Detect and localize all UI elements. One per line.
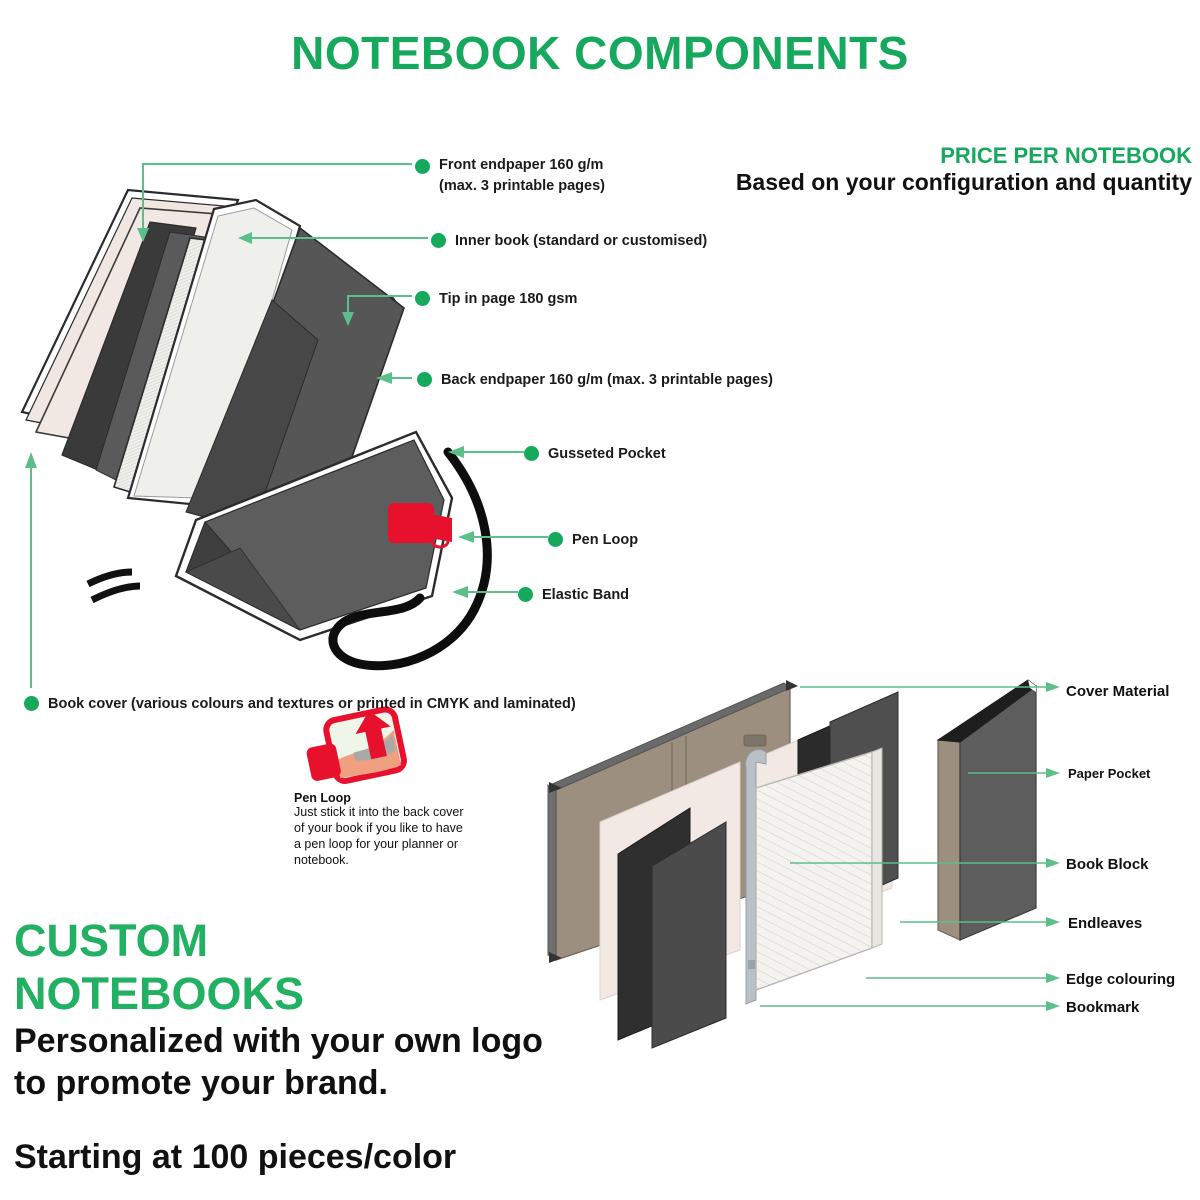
- callout-label: Book cover (various colours and textures…: [48, 694, 576, 715]
- spine-band-upper: [88, 572, 132, 584]
- cover-notch-bottom: [549, 952, 562, 963]
- inner-book-page: [128, 200, 300, 505]
- bullet-dot: [415, 291, 430, 306]
- bookmark-ribbon: [746, 750, 766, 1004]
- bullet-dot: [518, 587, 533, 602]
- callout-back-endpaper: Back endpaper 160 g/m (max. 3 printable …: [417, 370, 773, 391]
- pocket-slot: [744, 735, 766, 746]
- paper-pocket-spine: [938, 740, 960, 940]
- callout-elastic-band: Elastic Band: [518, 585, 629, 606]
- label-paper-pocket: Paper Pocket: [1068, 766, 1150, 781]
- book-block: [756, 752, 872, 990]
- cover-material-fold-top: [938, 680, 1036, 742]
- spine-band-lower: [92, 586, 140, 600]
- cover-notch-right: [786, 680, 798, 691]
- edge-colouring-panel: [798, 710, 866, 925]
- callout-label: Tip in page 180 gsm: [439, 289, 577, 310]
- elastic-band: [333, 452, 487, 666]
- callout-label: Pen Loop: [572, 530, 638, 551]
- page-block-edge: [114, 238, 236, 500]
- endleaves-sheet-left: [600, 762, 740, 1000]
- label-endleaves: Endleaves: [1068, 915, 1142, 932]
- book-block-edge: [872, 748, 882, 948]
- tip-in-page-sliver: [330, 300, 352, 360]
- callout-label: Front endpaper 160 g/m (max. 3 printable…: [439, 155, 605, 197]
- callout-gusseted-pocket: Gusseted Pocket: [524, 444, 666, 465]
- callout-book-cover: Book cover (various colours and textures…: [24, 694, 576, 715]
- tip-in-page: [336, 296, 402, 392]
- endleaves-sheet-right: [752, 700, 892, 938]
- dark-panel-a: [618, 808, 690, 1040]
- callout-label: Elastic Band: [542, 585, 629, 606]
- dark-panel-b: [652, 822, 726, 1048]
- label-edge-colouring: Edge colouring: [1066, 971, 1175, 988]
- callout-front-endpaper: Front endpaper 160 g/m (max. 3 printable…: [415, 155, 605, 197]
- label-book-block: Book Block: [1066, 856, 1149, 873]
- inner-sheet-dark-1: [62, 222, 196, 480]
- back-endpaper-shadow: [186, 300, 318, 530]
- footer-custom-line1: CUSTOM: [14, 915, 208, 967]
- callout-inner-book: Inner book (standard or customised): [431, 231, 707, 252]
- bullet-dot: [417, 372, 432, 387]
- exploded-isometric-group: [548, 680, 1060, 1048]
- page-title: NOTEBOOK COMPONENTS: [0, 26, 1200, 80]
- bullet-dot: [431, 233, 446, 248]
- callout-pen-loop: Pen Loop: [548, 530, 638, 551]
- cover-material-back-panel: [556, 688, 790, 960]
- front-endpaper-sheet: [36, 208, 243, 455]
- label-cover-material: Cover Material: [1066, 683, 1169, 700]
- bookmark-tail: [748, 960, 770, 969]
- leader-lines-exploded: [760, 682, 1060, 1011]
- peel-sticker-arrow-icon: [301, 706, 406, 788]
- endleaves-panel-dark: [830, 692, 898, 908]
- label-bookmark: Bookmark: [1066, 999, 1139, 1016]
- bullet-dot: [524, 446, 539, 461]
- paper-pocket-face: [960, 686, 1036, 940]
- bullet-dot: [415, 159, 430, 174]
- callout-label: Inner book (standard or customised): [455, 231, 707, 252]
- callout-label: Gusseted Pocket: [548, 444, 666, 465]
- bullet-dot: [548, 532, 563, 547]
- cover-material-top-edge: [550, 683, 790, 790]
- pen-loop-red: [388, 503, 452, 547]
- pen-loop-note-body: Just stick it into the back cover of you…: [294, 804, 474, 868]
- cover-material-edge: [548, 785, 556, 960]
- footer-custom-line2: NOTEBOOKS: [14, 968, 304, 1020]
- footer-promo-line2: to promote your brand.: [14, 1064, 388, 1103]
- footer-starting-quantity: Starting at 100 pieces/color: [14, 1138, 456, 1177]
- price-per-notebook-heading: PRICE PER NOTEBOOK: [940, 143, 1192, 169]
- book-cover-board: [22, 190, 238, 444]
- gusseted-pocket-cover: [176, 432, 452, 640]
- callout-tip-in-page: Tip in page 180 gsm: [415, 289, 577, 310]
- cover-notch-top: [549, 782, 562, 793]
- pen-loop-note-title: Pen Loop: [294, 791, 351, 805]
- inner-sheet-dark-2: [96, 232, 212, 492]
- callout-label: Back endpaper 160 g/m (max. 3 printable …: [441, 370, 773, 391]
- bullet-dot: [24, 696, 39, 711]
- price-subtitle: Based on your configuration and quantity: [736, 169, 1192, 196]
- footer-promo-line1: Personalized with your own logo: [14, 1022, 543, 1061]
- back-endpaper-panel: [200, 228, 404, 520]
